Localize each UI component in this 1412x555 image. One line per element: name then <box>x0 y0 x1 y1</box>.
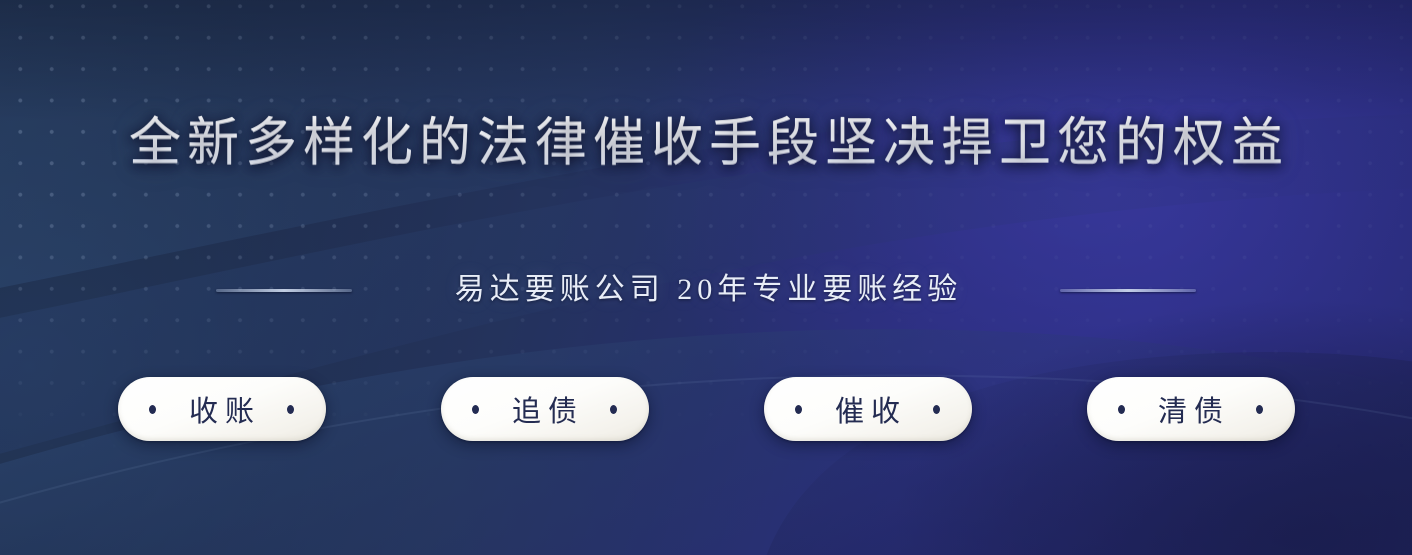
service-pill-label: 催收 <box>802 388 933 430</box>
service-pill-label: 收账 <box>156 388 287 430</box>
bullet-dot-icon <box>795 405 802 414</box>
bullet-dot-icon <box>149 405 156 414</box>
service-pill-label: 清债 <box>1125 388 1256 430</box>
rule-right <box>1060 289 1196 292</box>
service-pill-zhuizhai[interactable]: 追债 <box>441 377 649 441</box>
bullet-dot-icon <box>1118 405 1125 414</box>
bullet-dot-icon <box>1256 405 1263 414</box>
service-pill-group: 收账 追债 催收 清债 <box>0 377 1412 441</box>
banner-content: 全新多样化的法律催收手段坚决捍卫您的权益 易达要账公司 20年专业要账经验 收账… <box>0 0 1412 555</box>
bullet-dot-icon <box>287 405 294 414</box>
banner-headline: 全新多样化的法律催收手段坚决捍卫您的权益 <box>0 113 1412 175</box>
service-pill-label: 追债 <box>479 388 610 430</box>
service-pill-shouzhang[interactable]: 收账 <box>118 377 326 441</box>
banner-subtitle-row: 易达要账公司 20年专业要账经验 <box>0 268 1412 312</box>
bullet-dot-icon <box>472 405 479 414</box>
bullet-dot-icon <box>933 405 940 414</box>
service-pill-cuishou[interactable]: 催收 <box>764 377 972 441</box>
service-pill-qingzhai[interactable]: 清债 <box>1087 377 1295 441</box>
rule-left <box>216 289 352 292</box>
bullet-dot-icon <box>610 405 617 414</box>
promo-banner: 全新多样化的法律催收手段坚决捍卫您的权益 易达要账公司 20年专业要账经验 收账… <box>0 0 1412 555</box>
banner-subtitle: 易达要账公司 20年专业要账经验 <box>450 268 963 312</box>
